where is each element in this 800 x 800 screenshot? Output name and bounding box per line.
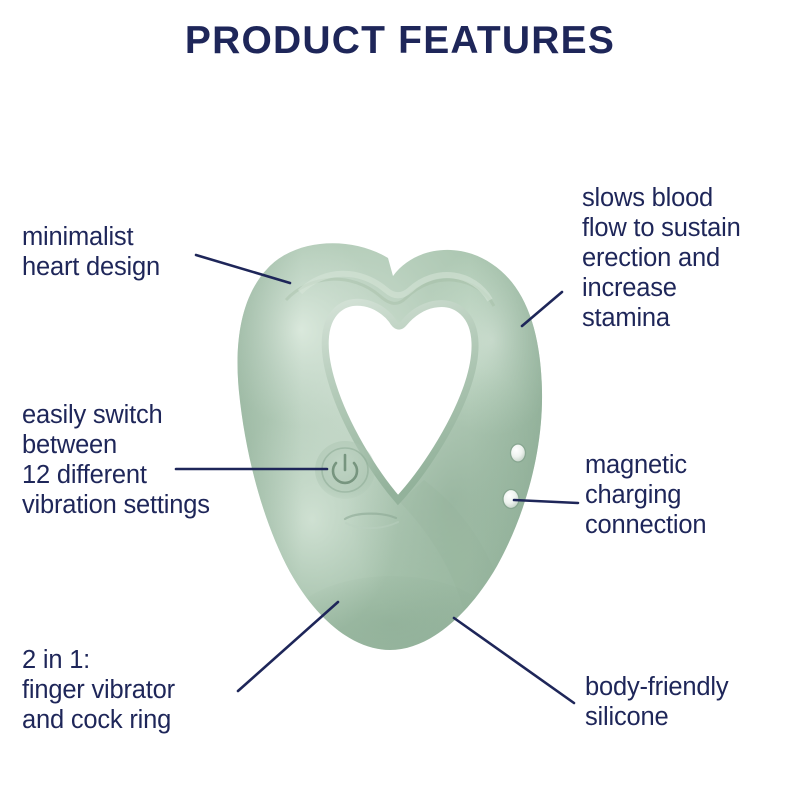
ring-opening-rim: [286, 274, 494, 500]
callout-slows-blood-flow: slows blood flow to sustain erection and…: [582, 183, 797, 333]
shadow-bottom: [288, 576, 496, 680]
highlight-right-lobe: [420, 244, 564, 436]
seam-slot: [345, 514, 398, 529]
leader-line-magnetic-charging: [514, 500, 578, 503]
ring-hole: [325, 302, 475, 500]
leader-line-slows-blood-flow: [522, 292, 562, 326]
power-button[interactable]: [315, 441, 375, 499]
ring-tube-highlight: [300, 274, 490, 300]
callout-magnetic-charging-connection: magnetic charging connection: [585, 450, 800, 540]
callout-minimalist-heart-design: minimalist heart design: [22, 222, 272, 282]
product-features-infographic: PRODUCT FEATURES: [0, 0, 800, 800]
shadow-right-edge: [470, 240, 560, 660]
callout-body-friendly-silicone: body-friendly silicone: [585, 672, 800, 732]
shadow-center: [348, 360, 556, 640]
callout-easily-switch-vibration-settings: easily switch between 12 different vibra…: [22, 400, 287, 520]
power-icon: [333, 463, 357, 483]
power-button-recess: [315, 441, 375, 499]
power-button-ring: [322, 448, 368, 492]
seam-line-lower: [346, 522, 398, 528]
magnetic-charging-pins: [503, 444, 526, 509]
seam-line: [345, 514, 396, 519]
page-title: PRODUCT FEATURES: [0, 20, 800, 63]
ring-rim-stroke: [325, 302, 475, 500]
leader-line-body-friendly-silicone: [454, 618, 574, 703]
charging-pin-upper: [511, 444, 526, 462]
ring-tube-crease: [286, 279, 494, 306]
callout-two-in-one: 2 in 1: finger vibrator and cock ring: [22, 645, 292, 735]
charging-pin-lower: [503, 490, 519, 509]
shadow-crease: [400, 480, 512, 640]
